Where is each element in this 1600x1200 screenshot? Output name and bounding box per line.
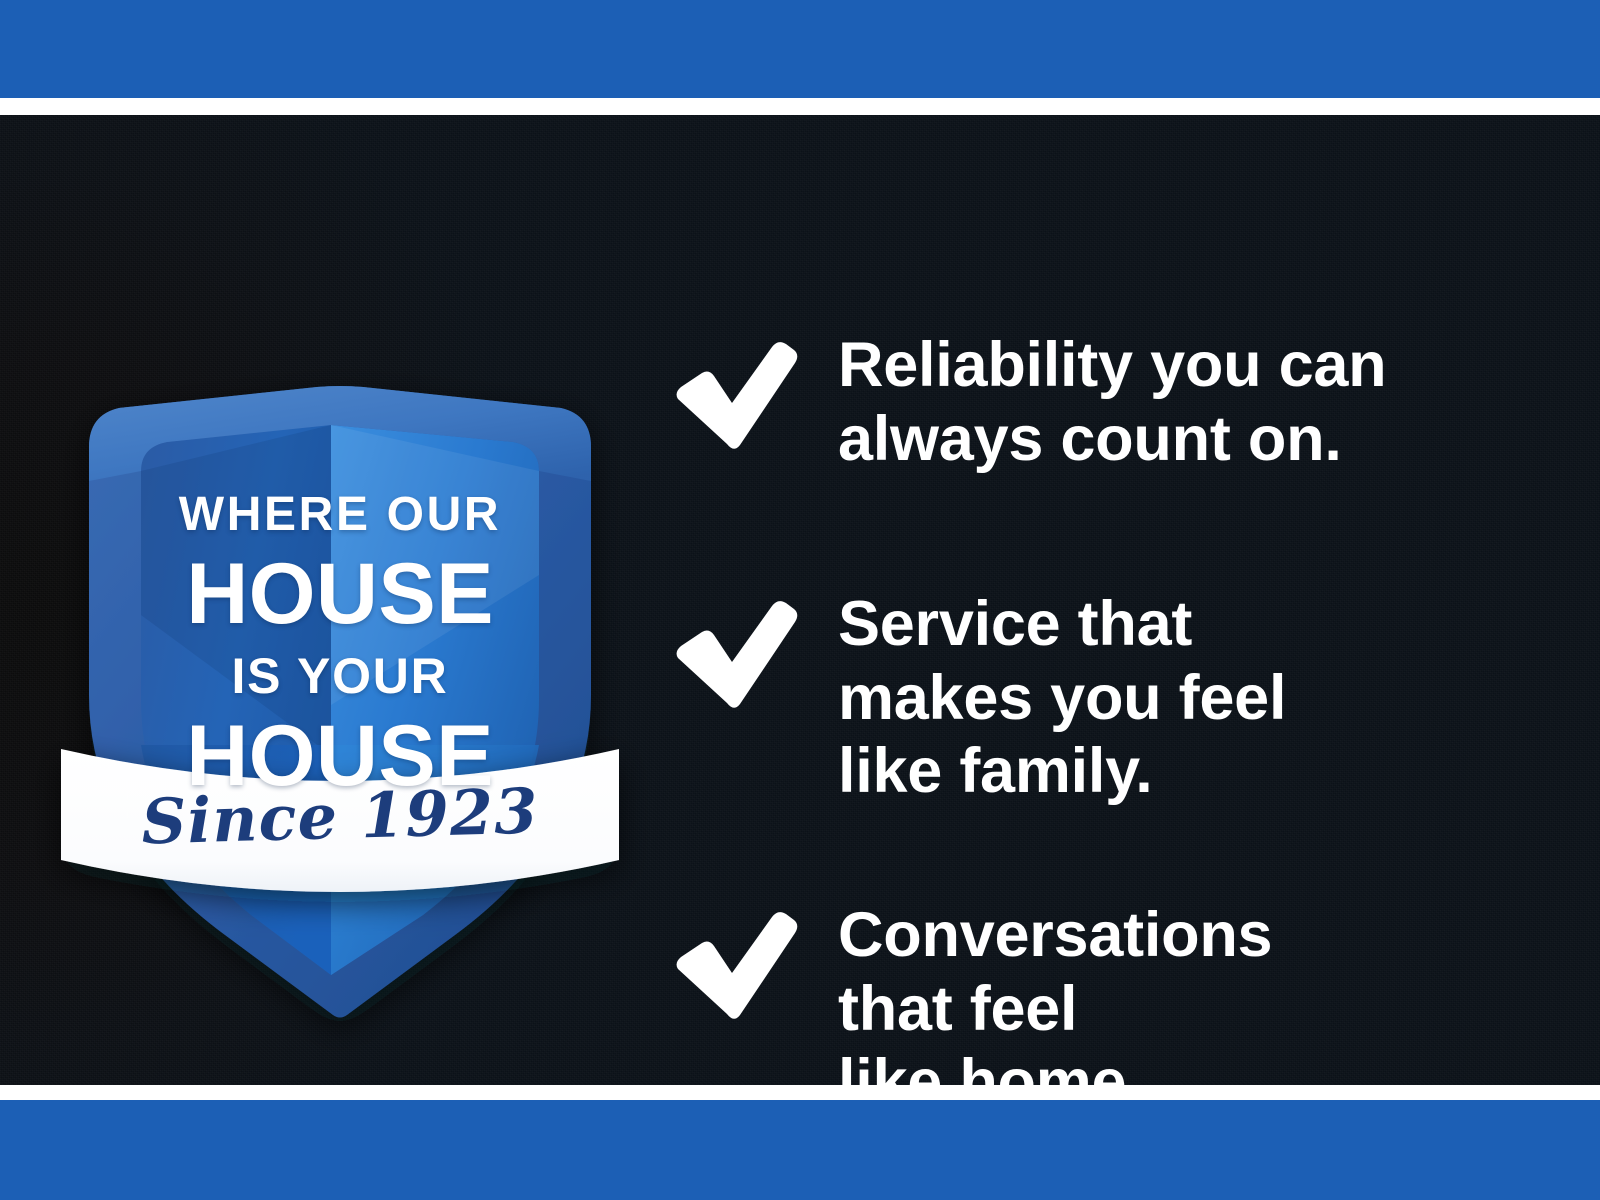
checkmark-icon: [668, 907, 800, 1025]
benefit-line: Reliability you can: [838, 329, 1558, 403]
benefit-line: that feel: [838, 973, 1558, 1047]
benefit-line: like family.: [838, 735, 1558, 809]
benefit-line: Conversations: [838, 899, 1558, 973]
benefit-text: Conversations that feel like home.: [838, 899, 1558, 1085]
benefit-line: like home.: [838, 1046, 1558, 1085]
shield-graphic: [55, 275, 625, 945]
top-brand-band: [0, 0, 1600, 98]
bottom-band-divider: [0, 1085, 1600, 1100]
benefit-line: always count on.: [838, 403, 1558, 477]
benefit-line: makes you feel: [838, 662, 1558, 736]
benefit-text: Service that makes you feel like family.: [838, 588, 1558, 809]
shield-badge: WHERE OUR HOUSE IS YOUR HOUSE Since 1923: [55, 275, 625, 945]
checkmark-icon: [668, 337, 800, 455]
bottom-brand-band: [0, 1100, 1600, 1200]
promo-graphic: WHERE OUR HOUSE IS YOUR HOUSE Since 1923…: [0, 0, 1600, 1200]
checkmark-icon: [668, 596, 800, 714]
main-canvas: WHERE OUR HOUSE IS YOUR HOUSE Since 1923…: [0, 115, 1600, 1085]
benefit-line: Service that: [838, 588, 1558, 662]
benefit-text: Reliability you can always count on.: [838, 329, 1558, 476]
top-band-divider: [0, 98, 1600, 115]
